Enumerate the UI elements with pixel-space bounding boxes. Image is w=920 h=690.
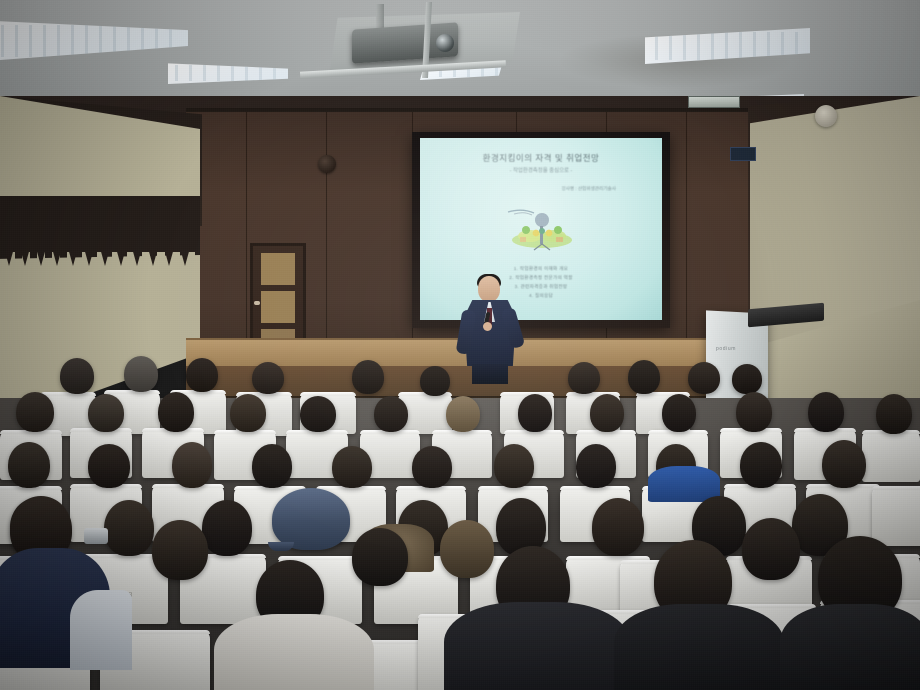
slide-subtitle: - 작업환경측정을 중심으로 -: [420, 166, 662, 174]
audience-head: [736, 392, 772, 432]
audience-head: [352, 528, 408, 586]
audience-head: [186, 358, 218, 392]
slide-title: 환경지킴이의 자격 및 취업전망: [420, 152, 662, 164]
audience-head: [822, 440, 866, 488]
audience-head: [252, 362, 284, 394]
exit-sign: [688, 96, 740, 108]
audience-head: [440, 520, 494, 578]
audience-head: [576, 444, 616, 488]
audience-head: [420, 366, 450, 396]
slide-bullet-2: 2. 작업환경측정 전문가의 역할: [420, 273, 662, 282]
audience-head: [688, 362, 720, 394]
audience-head: [8, 442, 50, 488]
person-in-dark-jacket: [614, 604, 784, 690]
person-right-foreground: [780, 604, 920, 690]
person-with-blue-cap: [272, 488, 350, 550]
audience-head: [124, 356, 158, 392]
projection-screen: 환경지킴이의 자격 및 취업전망 - 작업환경측정을 중심으로 - 강사명 : …: [420, 138, 662, 320]
audience-head: [60, 358, 94, 394]
audience-head: [88, 394, 124, 432]
presenter-legs: [472, 364, 508, 384]
lecture-hall-photo: 환경지킴이의 자격 및 취업전망 - 작업환경측정을 중심으로 - 강사명 : …: [0, 0, 920, 690]
door-panel-top: [261, 253, 295, 285]
projector-lens: [436, 34, 454, 52]
audience-head: [662, 394, 696, 432]
audience-head: [518, 394, 552, 432]
projection-screen-frame: 환경지킴이의 자격 및 취업전망 - 작업환경측정을 중심으로 - 강사명 : …: [412, 132, 670, 328]
lectern-logo: podium: [716, 346, 756, 353]
chair[interactable]: [872, 486, 920, 546]
presenter-head: [478, 276, 500, 302]
notice-sign: [730, 147, 756, 161]
audience-head: [732, 364, 762, 394]
audience-head: [152, 520, 208, 580]
audience-head: [592, 498, 644, 556]
person-shirt-sleeve: [70, 590, 132, 670]
slide-author: 강사명 : 산업위생관리기술사: [561, 186, 616, 192]
slide-bullet-list: 1. 작업환경의 이해와 개요 2. 작업환경측정 전문가의 역할 3. 관련자…: [420, 264, 662, 300]
audience-head: [446, 396, 480, 432]
audience-head: [158, 392, 194, 432]
wall-clock-icon: [815, 105, 837, 127]
audience-head: [568, 362, 600, 394]
audience-head: [172, 442, 212, 488]
audience-head: [104, 500, 154, 556]
audience-head: [202, 500, 252, 556]
presenter: [458, 276, 522, 382]
slide-bullet-3: 3. 관련자격증과 취업전망: [420, 282, 662, 291]
audience-head: [808, 392, 844, 432]
audience-head: [230, 394, 266, 432]
phone-camera-icon: [84, 528, 108, 544]
person-in-blue-jacket: [648, 466, 720, 502]
person-light-coat: [214, 614, 374, 690]
eco-environment-illustration: [504, 200, 580, 252]
slide-bullet-1: 1. 작업환경의 이해와 개요: [420, 264, 662, 273]
audience-head: [88, 444, 130, 488]
audience-head: [412, 446, 452, 488]
chair[interactable]: [862, 430, 920, 482]
audience-head: [590, 394, 624, 432]
person-in-black-coat: [444, 602, 630, 690]
audience-head: [876, 394, 912, 434]
wall-speaker-icon: [318, 155, 336, 173]
left-wall-drape: [0, 196, 200, 252]
audience-head: [742, 518, 800, 580]
audience-head: [494, 444, 534, 488]
audience-head: [332, 446, 372, 488]
slide-bullet-4: 4. 질의응답: [420, 291, 662, 300]
audience-head: [628, 360, 660, 394]
audience-head: [16, 392, 54, 432]
door-panel-mid: [261, 291, 295, 323]
audience-head: [300, 396, 336, 432]
door-handle-icon[interactable]: [254, 301, 260, 305]
audience-head: [252, 444, 292, 488]
audience-head: [374, 396, 408, 432]
audience-head: [352, 360, 384, 394]
presenter-hand: [483, 322, 492, 331]
audience-head: [740, 442, 782, 488]
